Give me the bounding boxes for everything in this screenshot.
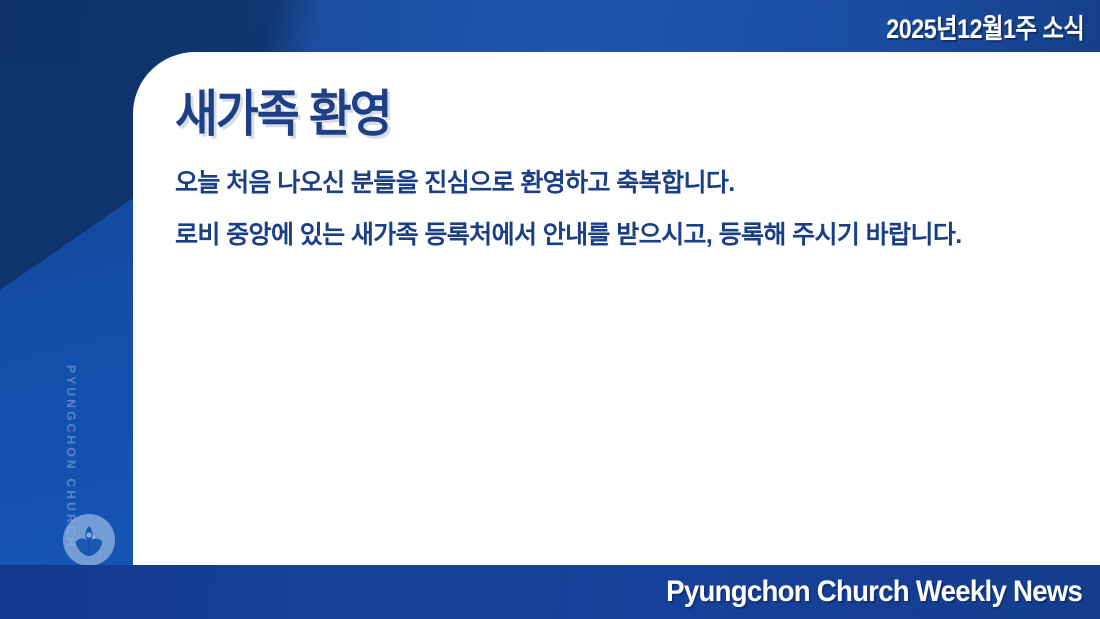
header-bar: 2025년12월1주 소식 [0,0,1100,52]
content-card: 새가족 환영 오늘 처음 나오신 분들을 진심으로 환영하고 축복합니다. 로비… [133,52,1100,565]
announcement-body: 오늘 처음 나오신 분들을 진심으로 환영하고 축복합니다. 로비 중앙에 있는… [175,157,1065,261]
body-line: 오늘 처음 나오신 분들을 진심으로 환영하고 축복합니다. [175,157,1065,209]
footer-bar: Pyungchon Church Weekly News [0,565,1100,619]
weekly-news-slide: 2025년12월1주 소식 PYUNGCHON CHURCH 새가족 환영 오늘… [0,0,1100,619]
issue-date-label: 2025년12월1주 소식 [886,7,1084,46]
footer-brand-label: Pyungchon Church Weekly News [666,575,1082,609]
body-line: 로비 중앙에 있는 새가족 등록처에서 안내를 받으시고, 등록해 주시기 바랍… [175,209,1065,261]
page-title: 새가족 환영 [175,74,391,146]
church-logo [61,512,117,568]
